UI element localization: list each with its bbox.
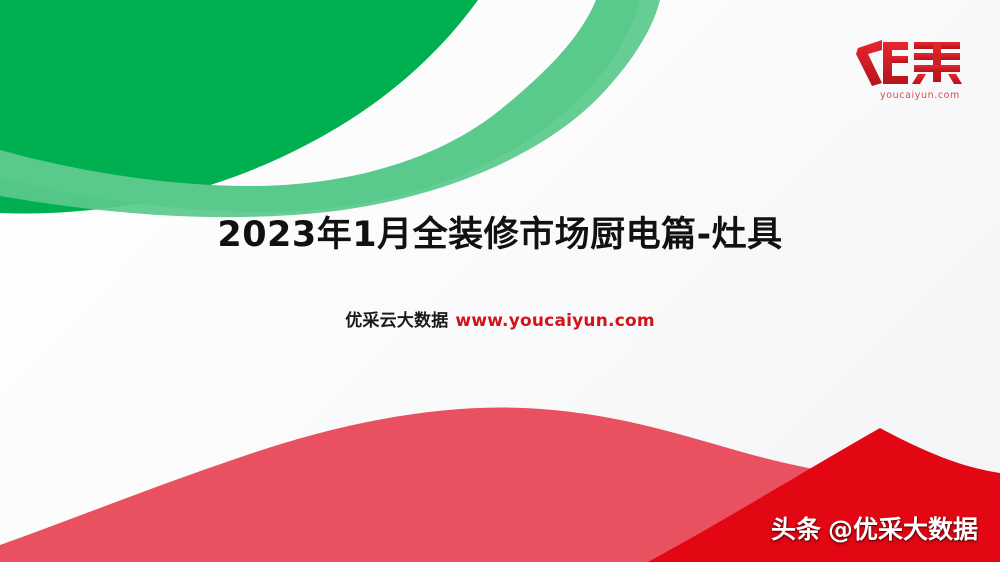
subtitle: 优采云大数据www.youcaiyun.com: [0, 258, 1000, 331]
watermark-platform: 头条: [771, 510, 821, 546]
slide-canvas: youcaiyun.com 2023年1月全装修市场厨电篇-灶具 优采云大数据w…: [0, 0, 1000, 562]
subtitle-brand: 优采云大数据: [345, 311, 448, 331]
green-dark-shape: [0, 0, 478, 213]
page-title: 2023年1月全装修市场厨电篇-灶具: [0, 214, 1000, 258]
green-light-crescent: [0, 0, 640, 212]
logo-wordmark-icon: [852, 34, 970, 90]
watermark: 头条 @优采大数据: [771, 510, 978, 546]
brand-logo: youcaiyun.com: [852, 34, 970, 106]
watermark-handle: @优采大数据: [828, 510, 978, 546]
green-light-shape: [0, 0, 660, 217]
logo-url-text: youcaiyun.com: [880, 90, 960, 101]
headline-block: 2023年1月全装修市场厨电篇-灶具 优采云大数据www.youcaiyun.c…: [0, 214, 1000, 331]
subtitle-url: www.youcaiyun.com: [455, 311, 654, 331]
